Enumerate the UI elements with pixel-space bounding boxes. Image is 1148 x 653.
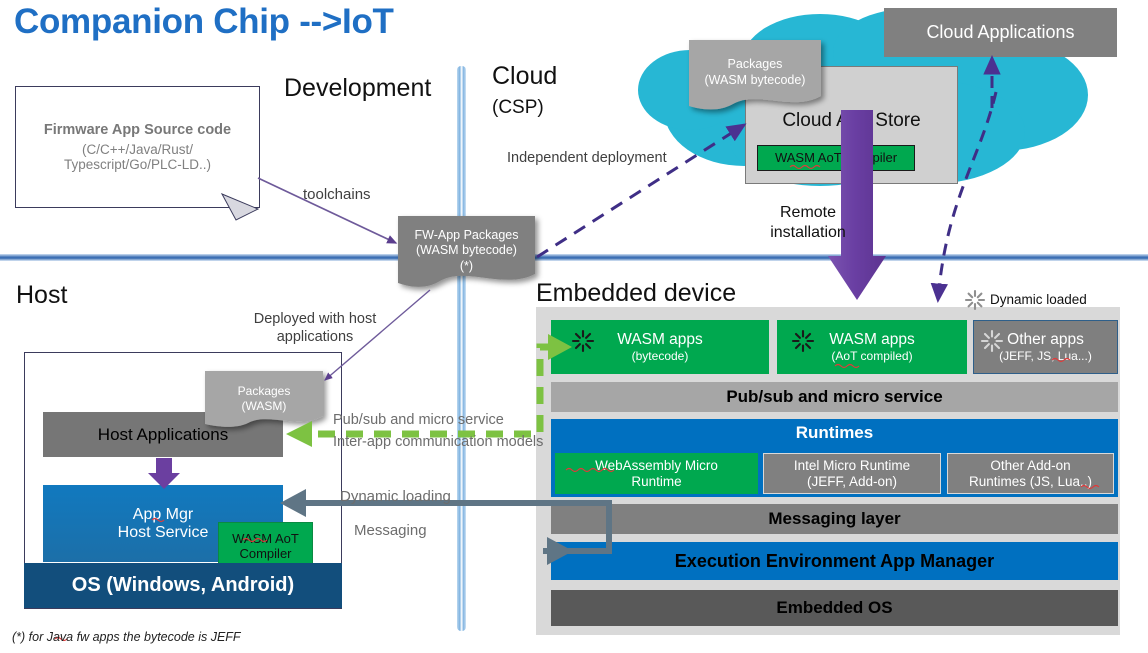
webassembly-micro-runtime-box[interactable]: WebAssembly Micro Runtime	[555, 453, 758, 494]
wasm-apps-bytecode-sub: (bytecode)	[632, 349, 689, 363]
firmware-app-source-box[interactable]: Firmware App Source code (C/C++/Java/Rus…	[15, 86, 260, 208]
deployed-line2: applications	[220, 328, 410, 346]
firmware-line3: Typescript/Go/PLC-LD..)	[64, 157, 211, 172]
cloud-wasm-aot-compiler-box[interactable]: WASM AoT Compiler	[757, 145, 915, 171]
fw-app-packages-callout[interactable]: FW-App Packages (WASM bytecode) (*)	[398, 216, 535, 286]
host-os-bar[interactable]: OS (Windows, Android)	[24, 563, 342, 608]
other-addon-runtimes-box[interactable]: Other Add-on Runtimes (JS, Lua..)	[947, 453, 1114, 494]
wasm-apps-bytecode-title: WASM apps	[617, 331, 703, 349]
caption-development: Development	[284, 74, 431, 103]
firmware-heading: Firmware App Source code	[44, 122, 231, 138]
wamr-line1: WebAssembly Micro	[595, 458, 718, 473]
dynamic-loading-label: Dynamic loading	[340, 488, 451, 505]
fw-pkg-line2: (WASM bytecode)	[415, 243, 519, 259]
cloud-applications-box[interactable]: Cloud Applications	[884, 8, 1117, 57]
footnote-text: (*) for Java fw apps the bytecode is JEF…	[12, 630, 241, 644]
host-pkg-line2: (WASM)	[238, 399, 291, 414]
toolchains-label: toolchains	[303, 186, 371, 203]
caption-embedded-device: Embedded device	[536, 279, 736, 308]
caption-csp: (CSP)	[492, 97, 544, 119]
wasm-apps-aot-box[interactable]: WASM apps (AoT compiled)	[777, 320, 967, 374]
host-aot-line2: Compiler	[239, 547, 291, 562]
other-apps-sub: (JEFF, JS, Lua...)	[999, 349, 1092, 363]
fw-pkg-line1: FW-App Packages	[415, 228, 519, 244]
embedded-os-label: Embedded OS	[776, 598, 892, 617]
host-pkg-line1: Packages	[238, 384, 291, 399]
deployed-line1: Deployed with host	[220, 310, 410, 328]
messaging-layer-label: Messaging layer	[768, 509, 900, 528]
cloud-packages-callout[interactable]: Packages (WASM bytecode)	[689, 40, 821, 106]
exec-env-label: Execution Environment App Manager	[675, 551, 994, 571]
messaging-layer-bar[interactable]: Messaging layer	[551, 504, 1118, 534]
cloud-app-store-title: Cloud App Store	[745, 107, 958, 135]
intel-runtime-line2: (JEFF, Add-on)	[807, 474, 897, 489]
fw-pkg-line3: (*)	[415, 259, 519, 275]
remote-installation-line1: Remote	[768, 203, 848, 223]
cloud-pkg-line1: Packages	[705, 57, 806, 73]
deployed-with-host-label: Deployed with host applications	[220, 310, 410, 346]
runtimes-label: Runtimes	[551, 421, 1118, 445]
independent-deployment-label: Independent deployment	[507, 150, 667, 166]
page-title: Companion Chip -->IoT	[14, 2, 394, 42]
independent-deployment-arrow	[537, 125, 744, 257]
messaging-label: Messaging	[354, 522, 427, 539]
pubsub-micro-service-label: Pub/sub and micro service	[726, 387, 942, 406]
dynamic-loaded-legend-label: Dynamic loaded	[990, 292, 1087, 307]
host-aot-line1: WASM AoT	[232, 532, 299, 547]
inter-app-communication-label: Inter-app communication models	[333, 434, 543, 450]
caption-cloud: Cloud	[492, 62, 557, 91]
cloud-pkg-line2: (WASM bytecode)	[705, 73, 806, 89]
wasm-apps-aot-sub: (AoT compiled)	[831, 349, 912, 363]
horizontal-divider	[0, 254, 1148, 261]
other-apps-box[interactable]: Other apps (JEFF, JS, Lua...)	[973, 320, 1118, 374]
other-runtime-line2: Runtimes (JS, Lua..)	[969, 474, 1092, 489]
host-applications-label: Host Applications	[98, 425, 228, 444]
pubsub-micro-service-arrow-label: Pub/sub and micro service	[333, 412, 504, 428]
pubsub-micro-service-bar[interactable]: Pub/sub and micro service	[551, 382, 1118, 412]
firmware-line2: (C/C++/Java/Rust/	[82, 142, 193, 157]
intel-runtime-line1: Intel Micro Runtime	[794, 458, 910, 473]
cloud-wasm-aot-compiler-label: WASM AoT Compiler	[775, 151, 897, 166]
host-packages-callout[interactable]: Packages (WASM)	[205, 371, 323, 426]
intel-micro-runtime-box[interactable]: Intel Micro Runtime (JEFF, Add-on)	[763, 453, 941, 494]
host-os-label: OS (Windows, Android)	[72, 574, 294, 596]
caption-host: Host	[16, 281, 67, 310]
execution-environment-app-manager-bar[interactable]: Execution Environment App Manager	[551, 542, 1118, 580]
app-mgr-line2: Host Service	[118, 524, 209, 542]
app-mgr-line1: App Mgr	[133, 506, 193, 524]
wasm-apps-bytecode-box[interactable]: WASM apps (bytecode)	[551, 320, 769, 374]
other-runtime-line1: Other Add-on	[990, 458, 1070, 473]
remote-installation-line2: installation	[768, 223, 848, 243]
remote-installation-label: Remote installation	[768, 203, 848, 243]
cloud-applications-label: Cloud Applications	[926, 22, 1074, 42]
vertical-divider	[457, 66, 466, 631]
embedded-os-bar[interactable]: Embedded OS	[551, 590, 1118, 626]
wamr-line2: Runtime	[631, 474, 681, 489]
other-apps-title: Other apps	[1007, 331, 1084, 349]
wasm-apps-aot-title: WASM apps	[829, 331, 915, 349]
